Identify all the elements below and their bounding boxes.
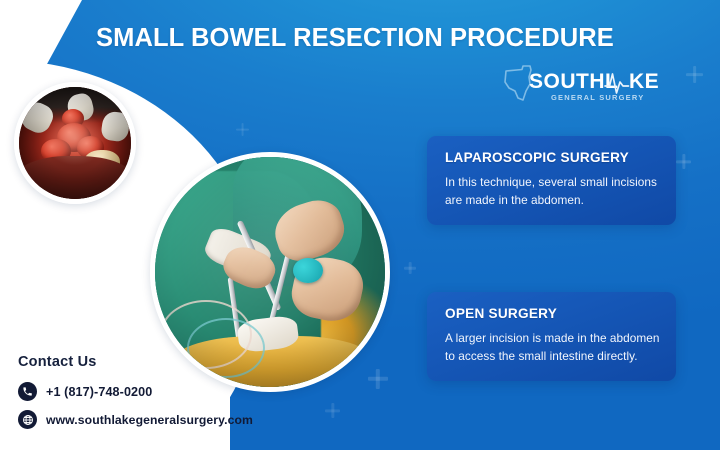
contact-section: Contact Us +1 (817)-748-0200 www.southla… [18,354,253,438]
open-surgery-scene [19,87,131,199]
contact-heading: Contact Us [18,354,253,370]
photo-shading [155,157,385,387]
logo-tagline: GENERAL SURGERY [551,93,644,102]
logo-name-part-2: KE [629,70,659,93]
card-title: LAPAROSCOPIC SURGERY [445,150,660,165]
contact-phone-row[interactable]: +1 (817)-748-0200 [18,382,253,401]
laparoscopic-scene [155,157,385,387]
contact-phone: +1 (817)-748-0200 [46,385,152,399]
texas-outline-icon [505,66,531,100]
contact-website-row[interactable]: www.southlakegeneralsurgery.com [18,410,253,429]
card-body: In this technique, several small incisio… [445,174,660,210]
infographic-poster: SMALL BOWEL RESECTION PROCEDURE SOUTHL K… [0,0,720,450]
info-card-laparoscopic[interactable]: LAPAROSCOPIC SURGERY In this technique, … [427,136,676,225]
photo-vignette [19,87,131,199]
contact-website: www.southlakegeneralsurgery.com [46,413,253,427]
phone-icon [18,382,37,401]
logo-name-part-1: SOUTHL [529,70,618,93]
card-body: A larger incision is made in the abdomen… [445,330,660,366]
open-surgery-photo [14,82,136,204]
page-title: SMALL BOWEL RESECTION PROCEDURE [96,24,666,52]
southlake-logo[interactable]: SOUTHL KE GENERAL SURGERY [500,62,665,110]
card-title: OPEN SURGERY [445,306,660,321]
info-card-open-surgery[interactable]: OPEN SURGERY A larger incision is made i… [427,292,676,381]
globe-icon [18,410,37,429]
